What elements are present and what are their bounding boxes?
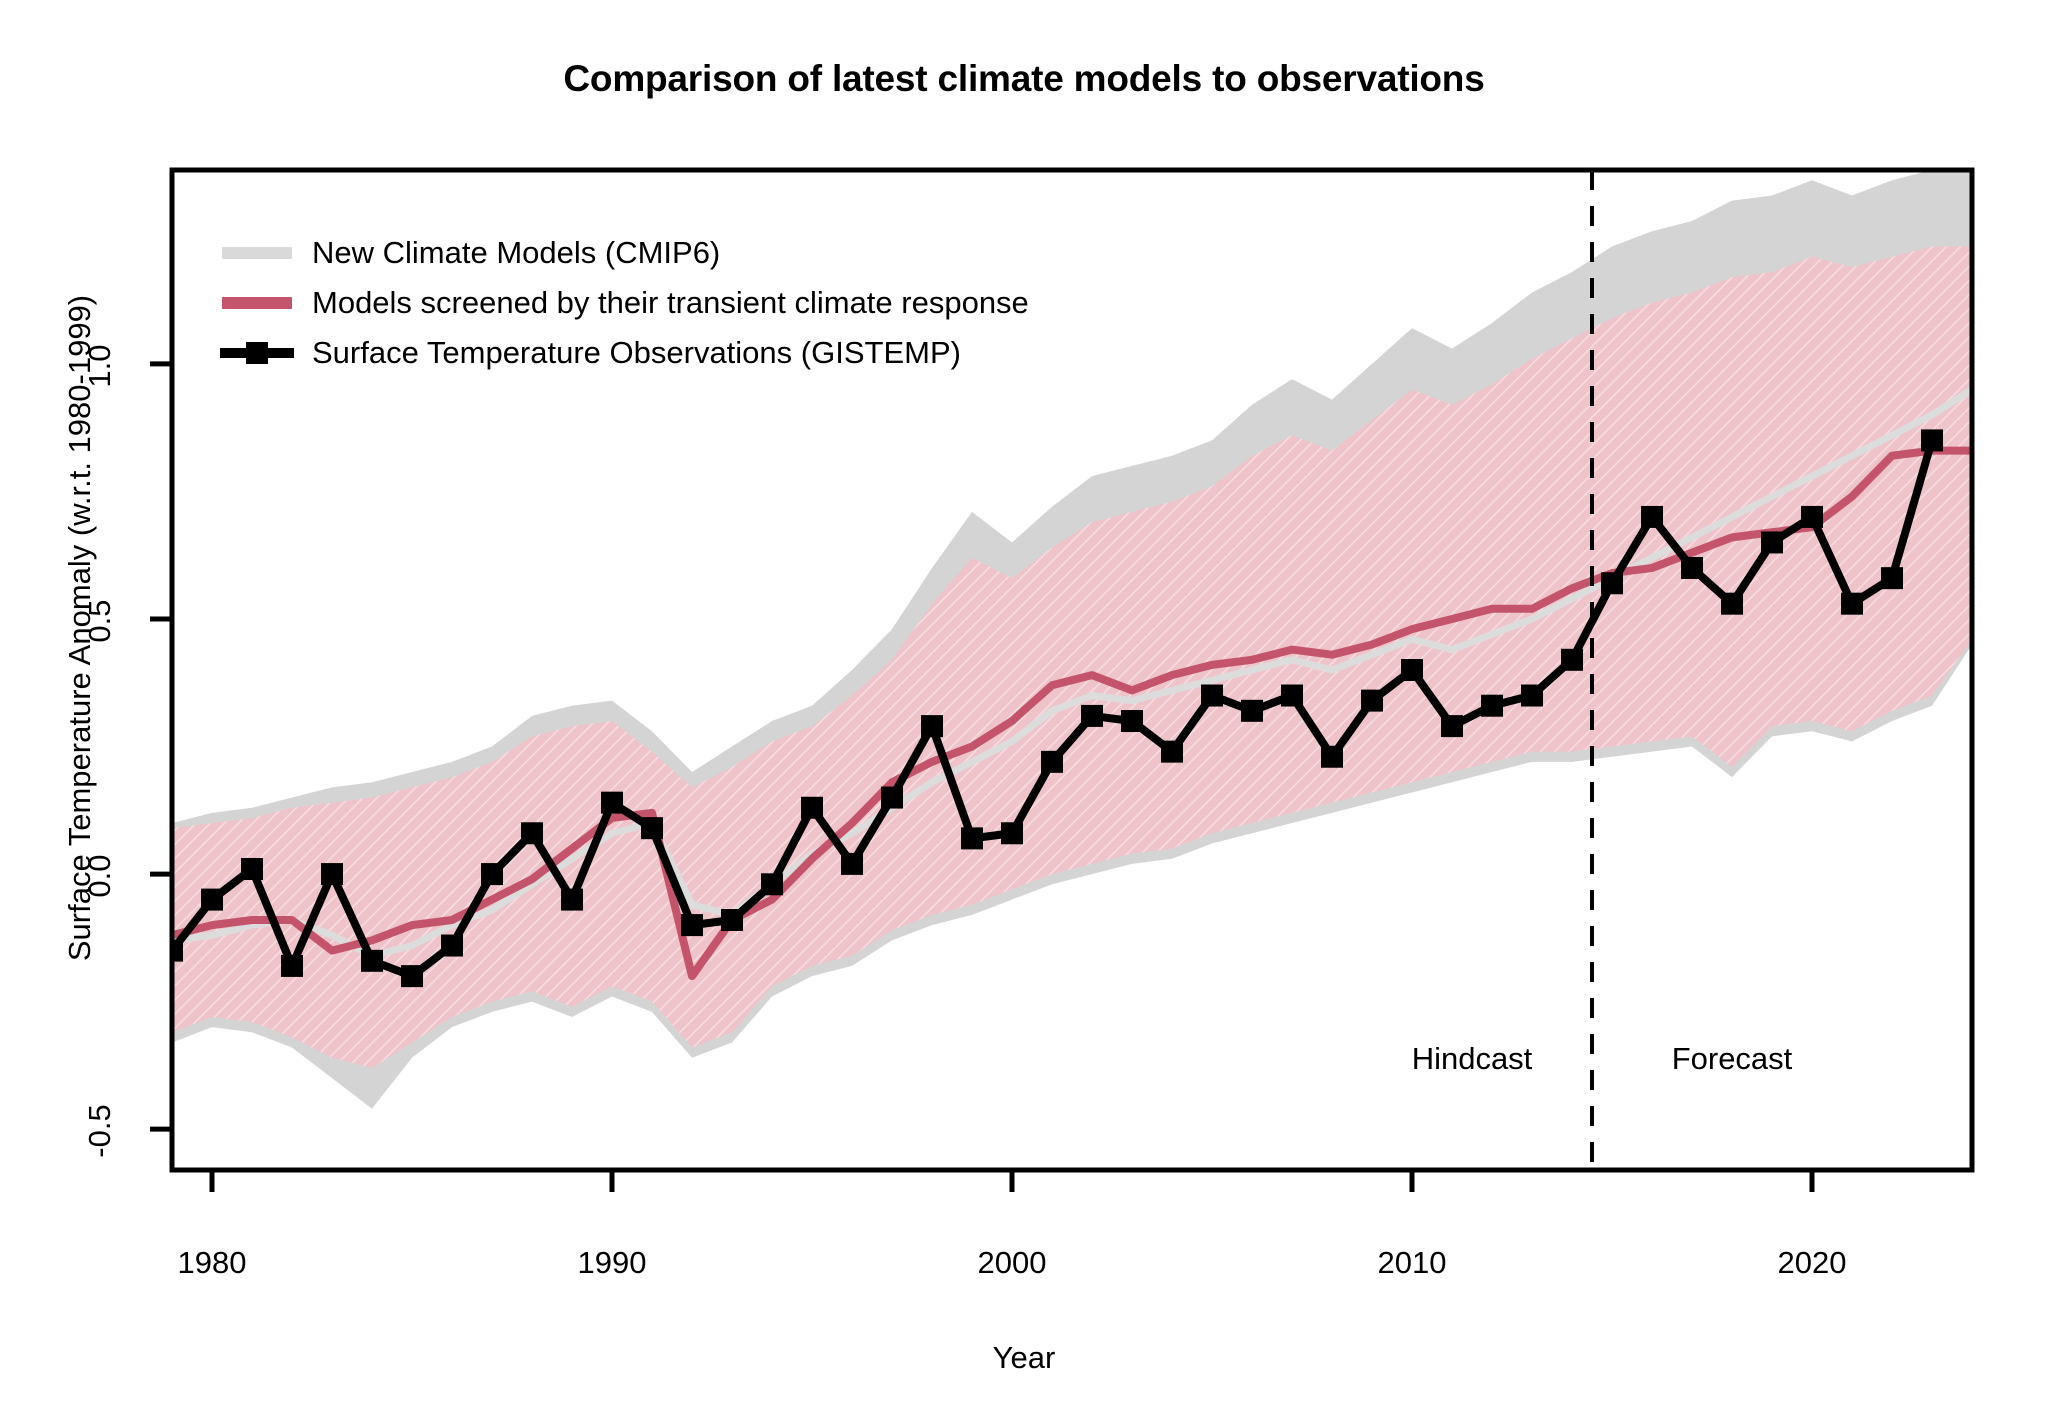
chart-figure: Comparison of latest climate models to o… bbox=[0, 0, 2048, 1422]
observation-marker bbox=[401, 965, 423, 987]
legend-item-cmip6[interactable]: New Climate Models (CMIP6) bbox=[218, 228, 1118, 278]
observation-marker bbox=[1841, 593, 1863, 615]
legend-item-screened[interactable]: Models screened by their transient clima… bbox=[218, 278, 1118, 328]
observation-marker bbox=[1441, 715, 1463, 737]
legend-label-observations: Surface Temperature Observations (GISTEM… bbox=[312, 335, 961, 371]
observation-marker bbox=[201, 889, 223, 911]
y-tick-label: -0.5 bbox=[82, 1086, 118, 1176]
y-tick-label: 0.0 bbox=[82, 831, 118, 921]
x-tick-label: 1990 bbox=[542, 1245, 682, 1281]
observation-marker bbox=[441, 935, 463, 957]
observation-marker bbox=[841, 853, 863, 875]
observation-marker bbox=[1361, 690, 1383, 712]
observation-marker bbox=[1481, 695, 1503, 717]
observation-marker bbox=[1601, 572, 1623, 594]
observation-marker bbox=[1321, 746, 1343, 768]
observation-marker bbox=[721, 909, 743, 931]
x-tick-label: 2020 bbox=[1742, 1245, 1882, 1281]
y-tick-label: 1.0 bbox=[82, 321, 118, 411]
plot-canvas bbox=[0, 0, 2048, 1422]
annotation-hindcast: Hindcast bbox=[1322, 1041, 1622, 1077]
annotation-forecast: Forecast bbox=[1582, 1041, 1882, 1077]
observation-marker bbox=[921, 715, 943, 737]
y-tick-label: 0.5 bbox=[82, 576, 118, 666]
observation-marker bbox=[361, 950, 383, 972]
observation-marker bbox=[641, 817, 663, 839]
observation-marker bbox=[1121, 710, 1143, 732]
legend-swatch-line-icon bbox=[218, 278, 296, 328]
observation-marker bbox=[1561, 649, 1583, 671]
observation-marker bbox=[241, 858, 263, 880]
observation-marker bbox=[1081, 705, 1103, 727]
observation-marker bbox=[681, 914, 703, 936]
observation-marker bbox=[281, 955, 303, 977]
observation-marker bbox=[961, 827, 983, 849]
legend-label-cmip6: New Climate Models (CMIP6) bbox=[312, 235, 720, 271]
observation-marker bbox=[1041, 751, 1063, 773]
observation-marker bbox=[801, 797, 823, 819]
observation-marker bbox=[1401, 659, 1423, 681]
observation-marker bbox=[1001, 822, 1023, 844]
observation-marker bbox=[1801, 506, 1823, 528]
legend-label-screened: Models screened by their transient clima… bbox=[312, 285, 1029, 321]
observation-marker bbox=[481, 863, 503, 885]
x-tick-label: 2000 bbox=[942, 1245, 1082, 1281]
observation-marker bbox=[881, 787, 903, 809]
x-tick-label: 2010 bbox=[1342, 1245, 1482, 1281]
observation-marker bbox=[561, 889, 583, 911]
observation-marker bbox=[1641, 506, 1663, 528]
observation-marker bbox=[1201, 685, 1223, 707]
observation-marker bbox=[1921, 429, 1943, 451]
observation-marker bbox=[1241, 700, 1263, 722]
legend-swatch-band-icon bbox=[218, 228, 296, 278]
observation-marker bbox=[1721, 593, 1743, 615]
observation-marker bbox=[1761, 531, 1783, 553]
observation-marker bbox=[321, 863, 343, 885]
legend-item-observations[interactable]: Surface Temperature Observations (GISTEM… bbox=[218, 328, 1118, 378]
observation-marker bbox=[1681, 557, 1703, 579]
observation-marker bbox=[761, 873, 783, 895]
observation-marker bbox=[1881, 567, 1903, 589]
observation-marker bbox=[601, 792, 623, 814]
observation-marker bbox=[521, 822, 543, 844]
legend-swatch-line-marker-icon bbox=[218, 328, 296, 378]
chart-legend: New Climate Models (CMIP6) Models screen… bbox=[218, 228, 1118, 378]
observation-marker bbox=[1281, 685, 1303, 707]
x-tick-label: 1980 bbox=[142, 1245, 282, 1281]
observation-marker bbox=[1521, 685, 1543, 707]
observation-marker bbox=[1161, 741, 1183, 763]
